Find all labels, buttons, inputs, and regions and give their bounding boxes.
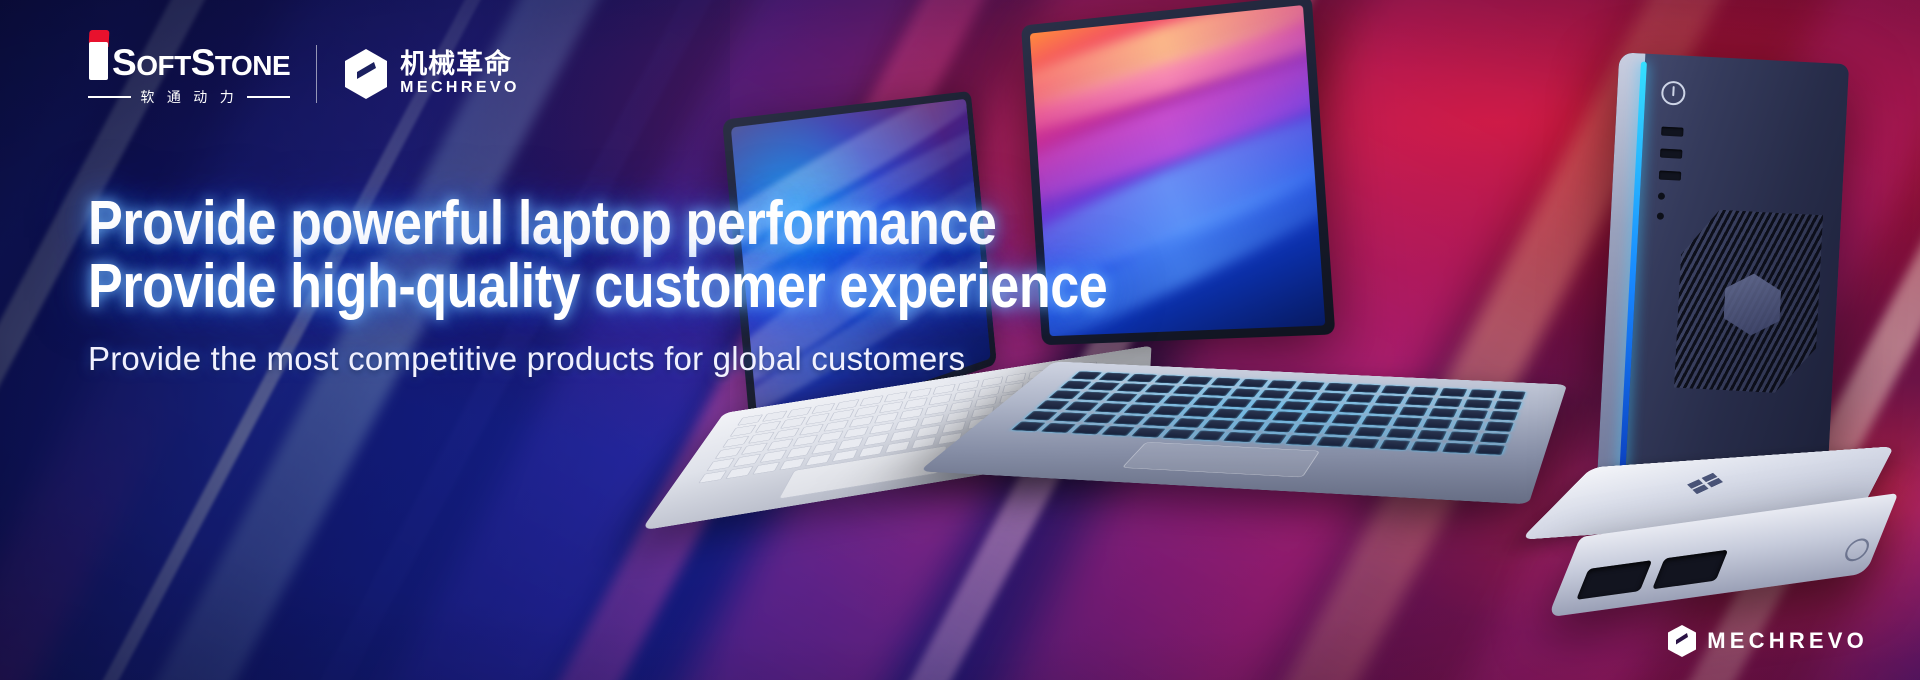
- rule-left: [88, 96, 131, 98]
- isoftstone-wordmark: SOFTSTONE: [88, 40, 290, 80]
- headline-line-2: Provide high-quality customer experience: [88, 255, 1107, 318]
- headline: Provide powerful laptop performance Prov…: [88, 192, 1107, 318]
- product-mini-pc-box: [1554, 419, 1896, 632]
- isoftstone-i-mark: [88, 40, 110, 80]
- isoftstone-s2: S: [191, 42, 215, 83]
- power-button-icon: [1661, 81, 1686, 106]
- isoftstone-s1: S: [112, 42, 136, 83]
- marketing-banner: SOFTSTONE 软 通 动 力 机械革命 MECHREVO: [0, 0, 1920, 680]
- laptop-gaming-base: [919, 361, 1567, 504]
- logo-bar: SOFTSTONE 软 通 动 力 机械革命 MECHREVO: [88, 40, 520, 107]
- mechrevo-hexagon-icon-small: [1667, 624, 1697, 658]
- mechrevo-text-block: 机械革命 MECHREVO: [400, 51, 520, 96]
- isoftstone-text: SOFTSTONE: [112, 46, 290, 80]
- mini-pc-vent-right: [1652, 550, 1728, 590]
- mechrevo-footer-logo[interactable]: MECHREVO: [1667, 624, 1868, 658]
- rule-right: [247, 96, 290, 98]
- logo-divider: [316, 45, 317, 103]
- mechrevo-hexagon-icon: [343, 48, 389, 100]
- headline-line-1: Provide powerful laptop performance: [88, 192, 1107, 255]
- isoftstone-logo[interactable]: SOFTSTONE 软 通 动 力: [88, 40, 290, 107]
- tower-io-ports: [1657, 127, 1684, 221]
- mechrevo-logo[interactable]: 机械革命 MECHREVO: [343, 48, 520, 100]
- i-stem-shape: [89, 42, 108, 80]
- mechrevo-chinese-name: 机械革命: [400, 51, 520, 78]
- mini-pc-vent-left: [1576, 560, 1652, 600]
- mechrevo-footer-text: MECHREVO: [1707, 628, 1868, 654]
- subtitle: Provide the most competitive products fo…: [88, 340, 1301, 378]
- isoftstone-oft: OFT: [136, 50, 191, 81]
- mechrevo-english-name: MECHREVO: [400, 80, 520, 96]
- isoftstone-chinese-name: 软 通 动 力: [140, 87, 237, 107]
- isoftstone-chinese-row: 软 通 动 力: [88, 87, 290, 107]
- headline-block: Provide powerful laptop performance Prov…: [88, 192, 1301, 378]
- isoftstone-tone: TONE: [215, 50, 290, 81]
